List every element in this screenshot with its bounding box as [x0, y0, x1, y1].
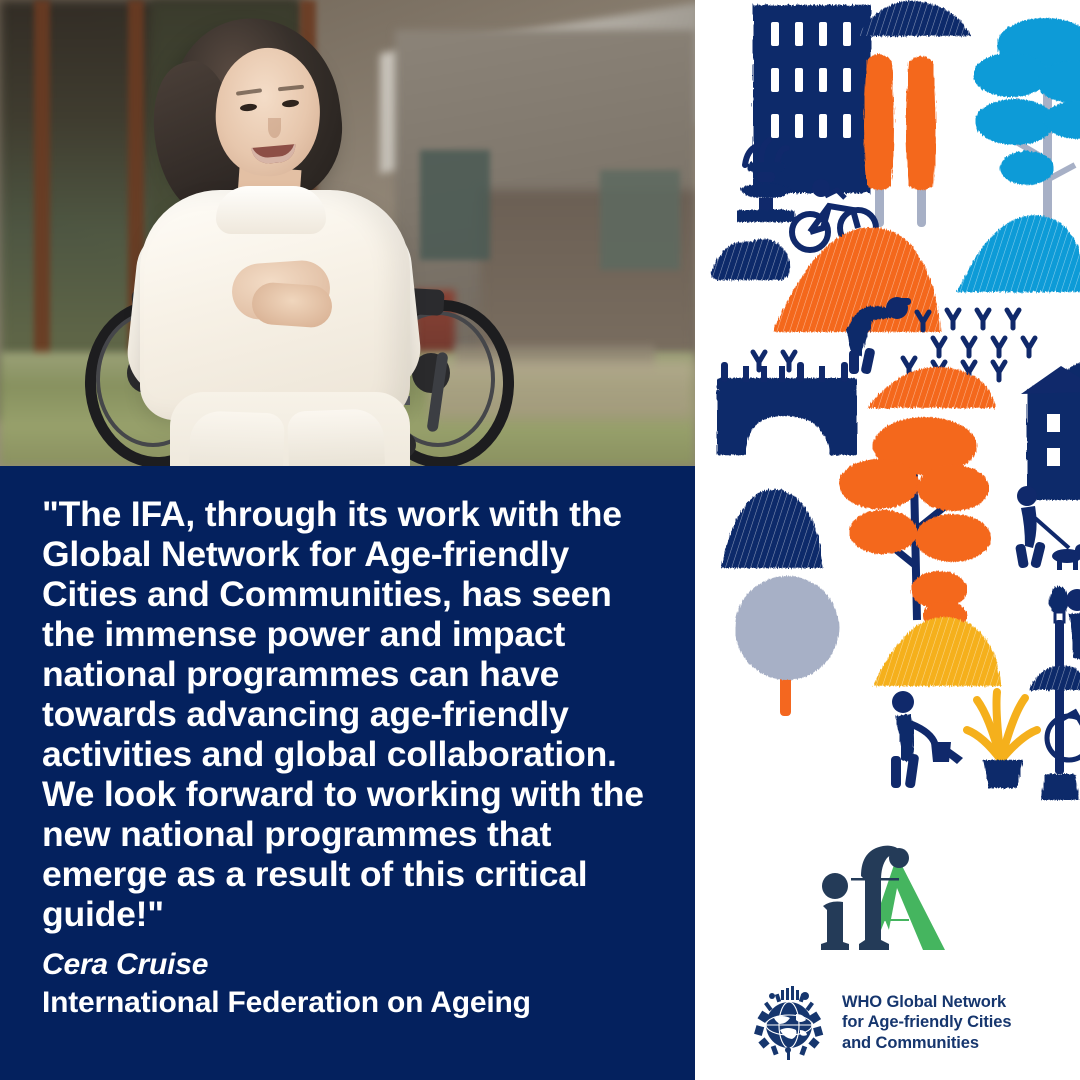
attribution-organisation: International Federation on Ageing [42, 984, 662, 1022]
quote-text: "The IFA, through its work with the Glob… [42, 494, 662, 934]
poster: "The IFA, through its work with the Glob… [0, 0, 1080, 1080]
navy-mound-icon [721, 489, 823, 568]
orange-tree-icon [839, 417, 991, 631]
yellow-hill-icon [873, 617, 1001, 686]
quote-attribution: Cera Cruise International Federation on … [42, 946, 662, 1022]
age-friendly-city-illustration [695, 0, 1080, 820]
who-global-network-logo: WHO Global Network for Age-friendly Citi… [750, 975, 1050, 1070]
navy-shrub-icon [1029, 666, 1080, 690]
who-logo-line-3: and Communities [842, 1033, 1011, 1054]
quote-panel: "The IFA, through its work with the Glob… [0, 466, 695, 1080]
ifa-logo-letter-i [821, 873, 849, 950]
who-globe-icon [750, 984, 828, 1062]
blue-hill-icon [957, 215, 1080, 292]
walking-person-icon [1066, 589, 1080, 660]
stone-bridge-icon [717, 362, 857, 455]
who-logo-text: WHO Global Network for Age-friendly Citi… [842, 992, 1011, 1054]
person-watering-icon [891, 691, 963, 789]
photo-senior-woman-in-wheelchair [0, 0, 695, 466]
person-turtleneck-collar [216, 186, 326, 234]
right-column: WHO Global Network for Age-friendly Citi… [695, 0, 1080, 1080]
who-logo-line-1: WHO Global Network [842, 992, 1011, 1013]
grey-tree-icon [735, 576, 839, 716]
who-logo-line-2: for Age-friendly Cities [842, 1012, 1011, 1033]
attribution-name: Cera Cruise [42, 946, 662, 984]
orange-poplar-trees-icon [864, 54, 936, 227]
orange-hill-small-icon [867, 367, 995, 408]
person-leg-right [287, 408, 385, 466]
ifa-logo [813, 840, 973, 955]
ifa-logo-letter-f [851, 846, 909, 950]
person-leg-left [189, 410, 285, 466]
navy-bush-icon [711, 239, 790, 280]
navy-hill-icon [857, 1, 971, 36]
logo-block: WHO Global Network for Age-friendly Citi… [695, 815, 1080, 1080]
house-icon [1021, 362, 1080, 500]
potted-plant-icon [967, 692, 1037, 788]
person-nose [268, 118, 281, 138]
left-column: "The IFA, through its work with the Glob… [0, 0, 695, 1080]
person-hands [251, 281, 334, 328]
